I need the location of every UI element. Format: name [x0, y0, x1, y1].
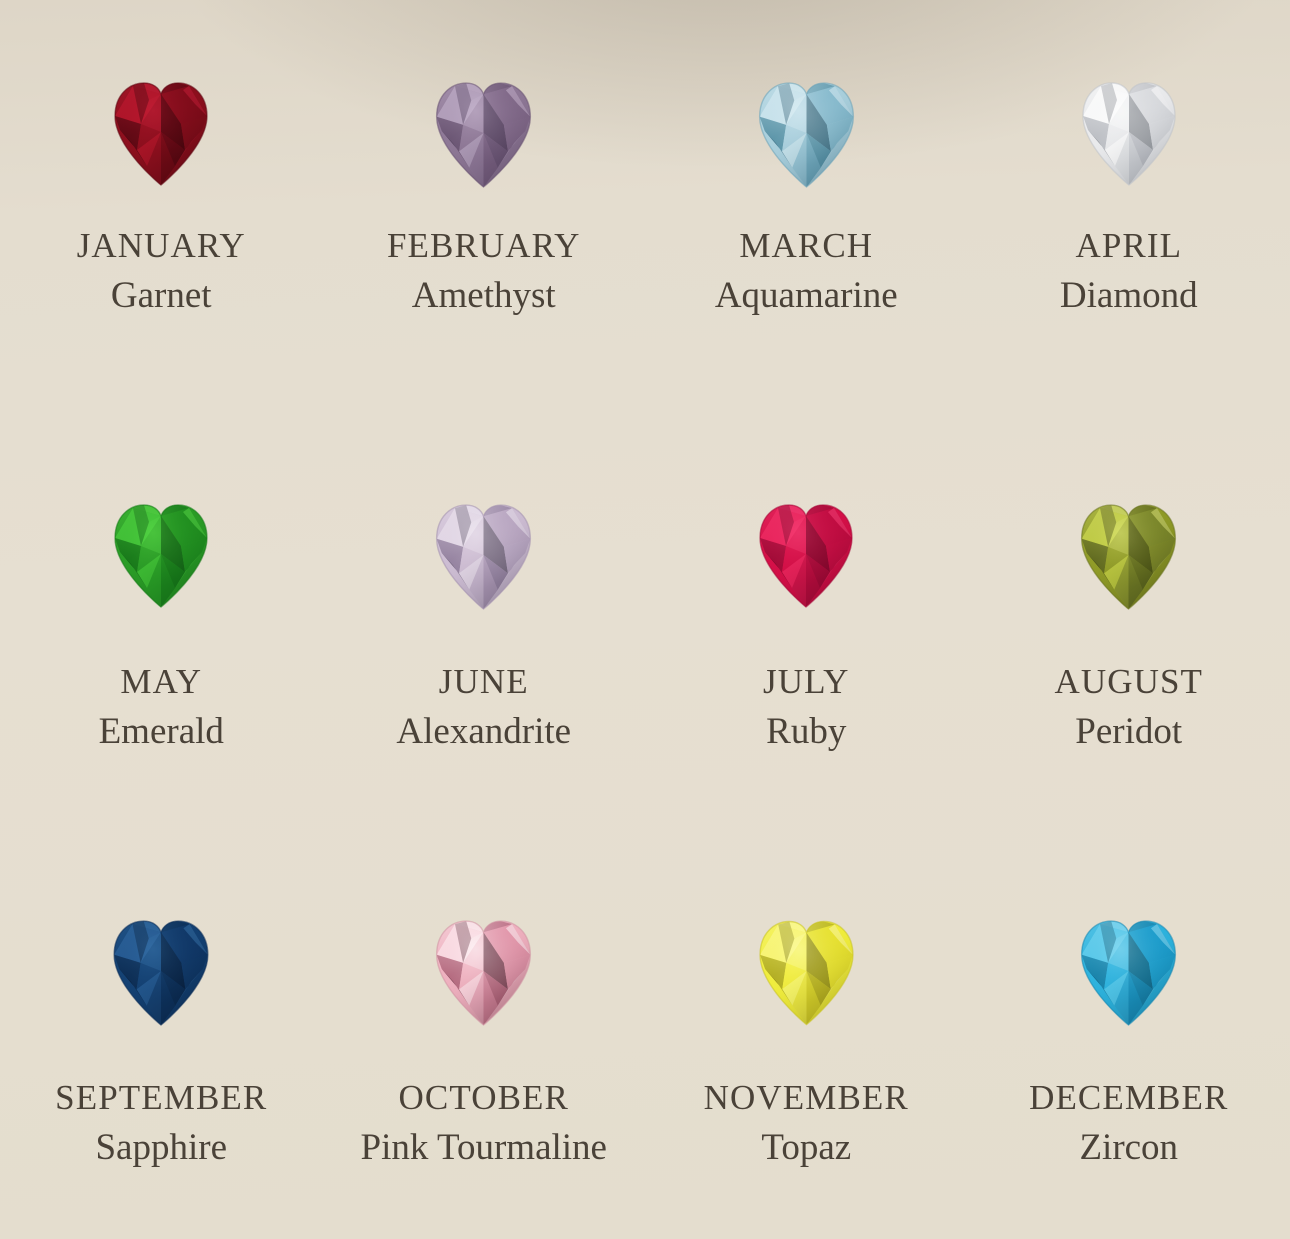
gem-february — [432, 78, 535, 188]
birthstone-grid: JANUARYGarnet FEBRUARYAmethyst — [0, 0, 1290, 1239]
month-label-october: OCTOBER — [314, 1080, 654, 1115]
birthstone-labels-july: JULYRuby — [636, 664, 976, 750]
gem-october — [431, 916, 536, 1026]
birthstone-cell-march: MARCHAquamarine — [645, 0, 968, 418]
birthstone-cell-september: SEPTEMBERSapphire — [0, 836, 323, 1239]
birthstone-labels-april: APRILDiamond — [959, 228, 1290, 314]
gem-june — [431, 500, 536, 610]
birthstone-chart: JANUARYGarnet FEBRUARYAmethyst — [0, 0, 1290, 1239]
birthstone-labels-january: JANUARYGarnet — [0, 228, 331, 314]
birthstone-labels-may: MAYEmerald — [0, 664, 331, 750]
stone-label-april: Diamond — [959, 277, 1290, 314]
birthstone-labels-october: OCTOBERPink Tourmaline — [314, 1080, 654, 1166]
heart-gem-icon — [1074, 78, 1184, 186]
month-label-june: JUNE — [314, 664, 654, 699]
birthstone-labels-september: SEPTEMBERSapphire — [0, 1080, 331, 1166]
heart-gem-icon — [755, 78, 858, 188]
heart-gem-icon — [755, 500, 857, 608]
birthstone-cell-june: JUNEAlexandrite — [323, 418, 646, 836]
birthstone-cell-november: NOVEMBERTopaz — [645, 836, 968, 1239]
gem-august — [1076, 500, 1181, 610]
stone-label-june: Alexandrite — [314, 713, 654, 750]
gem-march — [755, 78, 858, 188]
gem-september — [109, 916, 213, 1026]
birthstone-cell-august: AUGUSTPeridot — [968, 418, 1290, 836]
stone-label-november: Topaz — [636, 1129, 976, 1166]
heart-gem-icon — [756, 916, 857, 1026]
birthstone-cell-may: MAYEmerald — [0, 418, 323, 836]
stone-label-july: Ruby — [636, 713, 976, 750]
stone-label-february: Amethyst — [314, 277, 654, 314]
month-label-may: MAY — [0, 664, 331, 699]
stone-label-august: Peridot — [959, 713, 1290, 750]
month-label-august: AUGUST — [959, 664, 1290, 699]
heart-gem-icon — [1076, 916, 1181, 1026]
birthstone-cell-december: DECEMBERZircon — [968, 836, 1290, 1239]
birthstone-labels-june: JUNEAlexandrite — [314, 664, 654, 750]
stone-label-october: Pink Tourmaline — [314, 1129, 654, 1166]
heart-gem-icon — [431, 500, 536, 610]
birthstone-labels-august: AUGUSTPeridot — [959, 664, 1290, 750]
birthstone-cell-january: JANUARYGarnet — [0, 0, 323, 418]
gem-april — [1074, 78, 1184, 186]
heart-gem-icon — [109, 916, 213, 1026]
birthstone-labels-february: FEBRUARYAmethyst — [314, 228, 654, 314]
gem-may — [110, 500, 212, 608]
month-label-april: APRIL — [959, 228, 1290, 263]
month-label-september: SEPTEMBER — [0, 1080, 331, 1115]
gem-november — [756, 916, 857, 1026]
stone-label-march: Aquamarine — [636, 277, 976, 314]
heart-gem-icon — [110, 500, 212, 608]
month-label-december: DECEMBER — [959, 1080, 1290, 1115]
birthstone-labels-november: NOVEMBERTopaz — [636, 1080, 976, 1166]
birthstone-cell-april: APRILDiamond — [968, 0, 1290, 418]
heart-gem-icon — [431, 916, 536, 1026]
stone-label-may: Emerald — [0, 713, 331, 750]
stone-label-september: Sapphire — [0, 1129, 331, 1166]
month-label-november: NOVEMBER — [636, 1080, 976, 1115]
birthstone-cell-october: OCTOBERPink Tourmaline — [323, 836, 646, 1239]
gem-january — [111, 78, 211, 186]
month-label-july: JULY — [636, 664, 976, 699]
stone-label-january: Garnet — [0, 277, 331, 314]
birthstone-cell-july: JULYRuby — [645, 418, 968, 836]
stone-label-december: Zircon — [959, 1129, 1290, 1166]
gem-july — [755, 500, 857, 608]
gem-december — [1076, 916, 1181, 1026]
month-label-january: JANUARY — [0, 228, 331, 263]
heart-gem-icon — [1076, 500, 1181, 610]
heart-gem-icon — [111, 78, 211, 186]
month-label-march: MARCH — [636, 228, 976, 263]
heart-gem-icon — [432, 78, 535, 188]
month-label-february: FEBRUARY — [314, 228, 654, 263]
birthstone-labels-december: DECEMBERZircon — [959, 1080, 1290, 1166]
birthstone-cell-february: FEBRUARYAmethyst — [323, 0, 646, 418]
birthstone-labels-march: MARCHAquamarine — [636, 228, 976, 314]
